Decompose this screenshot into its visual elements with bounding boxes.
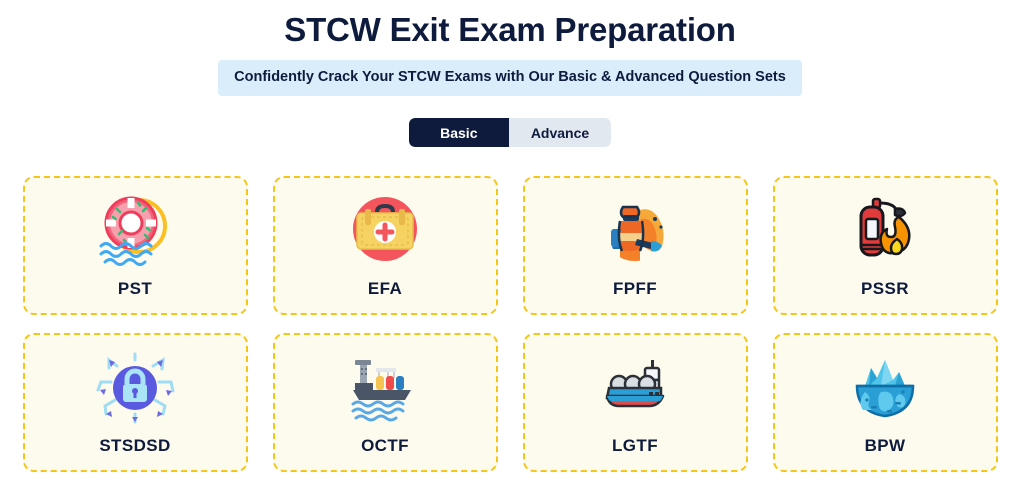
first-aid-briefcase-icon: [343, 189, 427, 273]
tab-advance[interactable]: Advance: [509, 118, 611, 147]
fire-extinguisher-icon: [843, 189, 927, 273]
course-label: PST: [118, 279, 152, 299]
liquefied-gas-tanker-icon: [593, 346, 677, 430]
course-card-bpw[interactable]: BPW: [773, 333, 998, 472]
course-label: OCTF: [361, 436, 409, 456]
level-toggle[interactable]: Basic Advance: [409, 118, 611, 147]
page-title: STCW Exit Exam Preparation: [0, 0, 1020, 51]
oil-chemical-tanker-icon: [343, 346, 427, 430]
firefighter-icon: [593, 189, 677, 273]
course-label: PSSR: [861, 279, 909, 299]
course-card-efa[interactable]: EFA: [273, 176, 498, 315]
course-card-lgtf[interactable]: LGTF: [523, 333, 748, 472]
course-card-fpff[interactable]: FPFF: [523, 176, 748, 315]
level-toggle-container: Basic Advance: [0, 118, 1020, 147]
iceberg-ballast-water-icon: [843, 346, 927, 430]
stcw-exam-preparation-page: STCW Exit Exam Preparation Confidently C…: [0, 0, 1020, 485]
course-label: LGTF: [612, 436, 658, 456]
course-card-grid: PST EFA: [0, 176, 1020, 472]
lifebuoy-icon: [93, 189, 177, 273]
security-padlock-icon: [93, 346, 177, 430]
course-label: STSDSD: [99, 436, 170, 456]
course-label: FPFF: [613, 279, 657, 299]
tab-basic[interactable]: Basic: [409, 118, 509, 147]
subtitle-banner: Confidently Crack Your STCW Exams with O…: [218, 60, 802, 96]
course-card-octf[interactable]: OCTF: [273, 333, 498, 472]
course-card-stsdsd[interactable]: STSDSD: [23, 333, 248, 472]
subtitle-container: Confidently Crack Your STCW Exams with O…: [0, 60, 1020, 96]
course-label: EFA: [368, 279, 402, 299]
course-label: BPW: [865, 436, 906, 456]
course-card-pssr[interactable]: PSSR: [773, 176, 998, 315]
course-card-pst[interactable]: PST: [23, 176, 248, 315]
